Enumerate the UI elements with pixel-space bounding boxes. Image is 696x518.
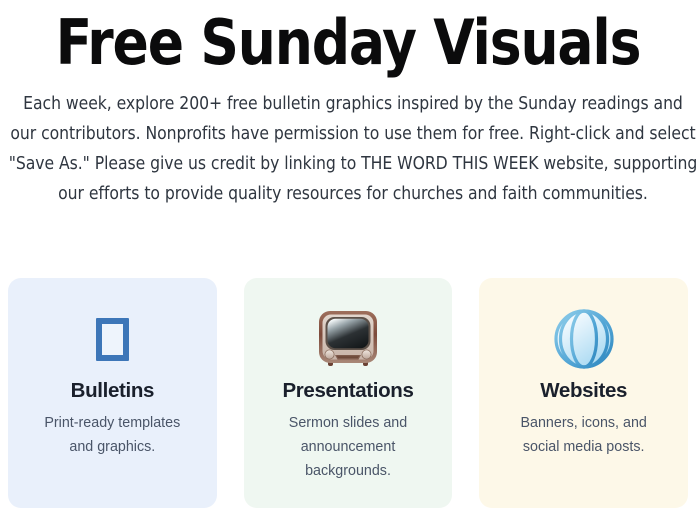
hero-description: Each week, explore 200+ free bulletin gr… [8, 89, 696, 209]
globe-icon [552, 305, 616, 373]
card-description-presentations: Sermon slides and announcement backgroun… [268, 411, 428, 483]
category-card-presentations[interactable]: Presentations Sermon slides and announce… [244, 278, 453, 508]
free-sunday-visuals-page: Free Sunday Visuals Each week, explore 2… [0, 0, 696, 518]
card-title-websites: Websites [540, 379, 627, 404]
hero-section: Free Sunday Visuals Each week, explore 2… [0, 0, 696, 209]
card-description-websites: Banners, icons, and social media posts. [504, 411, 664, 459]
television-icon [317, 305, 379, 373]
page-title: Free Sunday Visuals [22, 0, 675, 75]
category-card-grid: Bulletins Print-ready templates and grap… [8, 278, 688, 508]
category-card-bulletins[interactable]: Bulletins Print-ready templates and grap… [8, 278, 217, 508]
card-description-bulletins: Print-ready templates and graphics. [32, 411, 192, 459]
card-title-presentations: Presentations [282, 379, 413, 404]
page-icon [96, 305, 129, 373]
card-title-bulletins: Bulletins [71, 379, 154, 404]
category-card-websites[interactable]: Websites Banners, icons, and social medi… [479, 278, 688, 508]
